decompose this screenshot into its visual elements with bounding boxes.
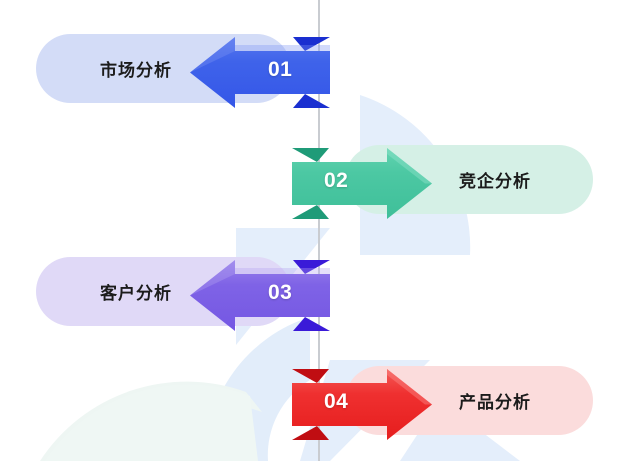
step-03-number: 03 <box>268 281 292 305</box>
step-01-label: 市场分析 <box>100 56 172 81</box>
step-01-arrow[interactable]: 01 <box>180 25 340 120</box>
ribbon-fold-bottom <box>293 317 330 331</box>
arrow-left-icon <box>180 248 340 343</box>
step-04-label: 产品分析 <box>459 388 531 413</box>
diagram-canvas: 市场分析 <box>0 0 620 461</box>
step-02-number: 02 <box>324 169 348 193</box>
arrow-left-icon <box>180 25 340 120</box>
step-01-number: 01 <box>268 58 292 82</box>
arrow-right-icon <box>282 357 442 452</box>
step-02-label: 竞企分析 <box>459 167 531 192</box>
step-04-number: 04 <box>324 390 348 414</box>
ribbon-fold-top <box>292 148 329 162</box>
arrow-right-icon <box>282 136 442 231</box>
step-04-arrow[interactable]: 04 <box>282 357 442 452</box>
ribbon-fold-bottom <box>292 205 329 219</box>
step-03-label: 客户分析 <box>100 279 172 304</box>
step-02-arrow[interactable]: 02 <box>282 136 442 231</box>
ribbon-fold-top <box>292 369 329 383</box>
step-03-arrow[interactable]: 03 <box>180 248 340 343</box>
ribbon-fold-bottom <box>293 94 330 108</box>
ribbon-fold-bottom <box>292 426 329 440</box>
